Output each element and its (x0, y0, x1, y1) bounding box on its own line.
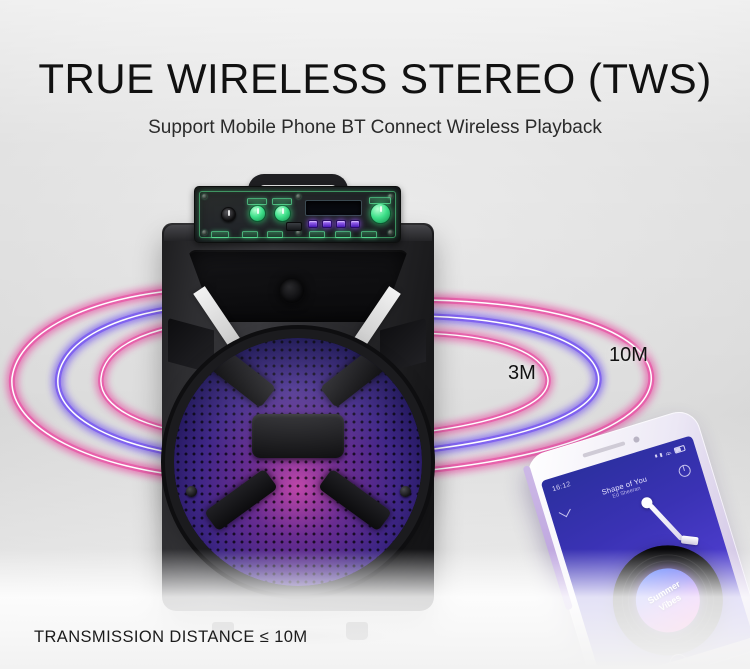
knob-label-treble (247, 198, 267, 205)
album-title: Summer Vibes (633, 571, 700, 625)
tonearm-headshell (681, 535, 699, 545)
product-banner: 16:12 Shape of You Ed Sheeran (0, 0, 750, 669)
knob-indicator (282, 208, 284, 214)
status-icons (654, 445, 685, 459)
woofer-led-grille (174, 338, 422, 586)
vinyl-record[interactable]: Summer Vibes (599, 532, 736, 669)
woofer-sheen (174, 338, 422, 586)
control-panel[interactable] (194, 186, 401, 243)
function-label-5 (335, 231, 351, 238)
mic-volume-knob[interactable] (221, 207, 236, 222)
function-label-1 (211, 231, 229, 238)
treble-knob[interactable] (249, 205, 266, 222)
led-button-4[interactable] (350, 220, 360, 228)
function-label-4 (309, 231, 325, 238)
cabinet-bolt-left (186, 486, 197, 497)
wifi-icon (664, 449, 672, 456)
led-button-2[interactable] (322, 220, 332, 228)
status-time: 16:12 (551, 481, 571, 493)
lcd-display (305, 200, 362, 216)
knob-indicator (228, 210, 230, 216)
master-volume-knob[interactable] (370, 203, 391, 224)
transmission-distance-note: TRANSMISSION DISTANCE ≤ 10M (34, 628, 308, 647)
knob-label-bass (272, 198, 292, 205)
battery-icon (674, 445, 686, 453)
panel-screw (202, 230, 207, 235)
page-title: TRUE WIRELESS STEREO (TWS) (0, 55, 750, 103)
track-subtitle: Ed Sheeran (550, 467, 703, 519)
knob-indicator (380, 206, 382, 212)
function-label-2 (242, 231, 258, 238)
panel-screw (296, 194, 301, 199)
panel-screw (388, 230, 393, 235)
distance-label-3m: 3M (508, 362, 536, 385)
function-label-6 (361, 231, 377, 238)
tweeter-dome (279, 278, 305, 304)
bass-knob[interactable] (274, 205, 291, 222)
signal-bars-icon (655, 455, 658, 458)
cabinet-bolt-right (400, 486, 411, 497)
usb-sd-slot[interactable] (286, 222, 302, 231)
signal-bars-icon (659, 452, 662, 457)
page-subtitle: Support Mobile Phone BT Connect Wireless… (0, 117, 750, 139)
panel-screw (202, 194, 207, 199)
led-button-1[interactable] (308, 220, 318, 228)
tonearm (648, 503, 684, 542)
knob-label-volume (369, 197, 391, 204)
function-label-3 (267, 231, 283, 238)
distance-label-10m: 10M (609, 344, 648, 367)
bluetooth-speaker (150, 168, 445, 638)
led-button-3[interactable] (336, 220, 346, 228)
knob-indicator (257, 208, 259, 214)
